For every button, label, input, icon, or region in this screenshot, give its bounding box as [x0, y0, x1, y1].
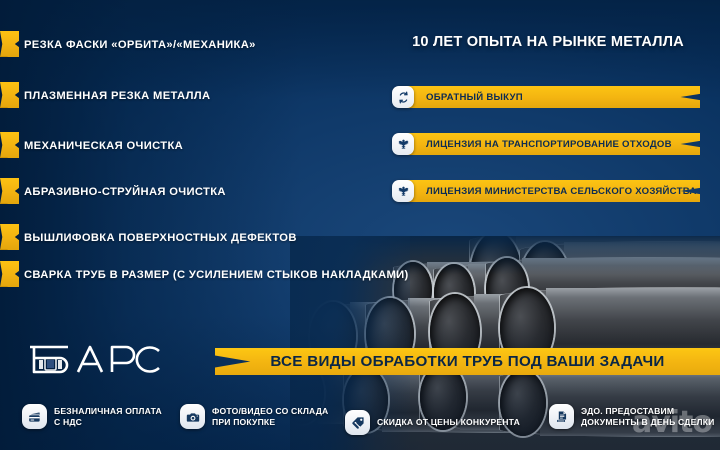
- service-item-0: РЕЗКА ФАСКИ «ОРБИТА»/«МЕХАНИКА»: [24, 39, 256, 51]
- price-tag-icon: [345, 410, 370, 435]
- service-item-2: МЕХАНИЧЕСКАЯ ОЧИСТКА: [24, 140, 183, 152]
- service-label: МЕХАНИЧЕСКАЯ ОЧИСТКА: [24, 140, 183, 152]
- camera-icon: [180, 404, 205, 429]
- badge-label: ЛИЦЕНЗИЯ МИНИСТЕРСТВА СЕЛЬСКОГО ХОЗЯЙСТВ…: [426, 186, 697, 197]
- feature-text: ФОТО/ВИДЕО СО СКЛАДА ПРИ ПОКУПКЕ: [212, 406, 328, 428]
- feature-item-0: БЕЗНАЛИЧНАЯ ОПЛАТА С НДС: [22, 404, 162, 429]
- feature-item-1: ФОТО/ВИДЕО СО СКЛАДА ПРИ ПОКУПКЕ: [180, 404, 328, 429]
- double-headed-eagle-icon: [392, 180, 414, 202]
- feature-line-1: ЭДО. ПРЕДОСТАВИМ: [581, 406, 674, 416]
- recycle-arrows-icon: [392, 86, 414, 108]
- feature-text: СКИДКА ОТ ЦЕНЫ КОНКУРЕНТА: [377, 417, 520, 428]
- feature-line-1: БЕЗНАЛИЧНАЯ ОПЛАТА: [54, 406, 162, 416]
- service-label: ВЫШЛИФОВКА ПОВЕРХНОСТНЫХ ДЕФЕКТОВ: [24, 232, 297, 244]
- badge-label: ЛИЦЕНЗИЯ НА ТРАНСПОРТИРОВАНИЕ ОТХОДОВ: [426, 139, 672, 150]
- credit-card-icon: [22, 404, 47, 429]
- badge-row-1: ЛИЦЕНЗИЯ НА ТРАНСПОРТИРОВАНИЕ ОТХОДОВ: [400, 133, 700, 155]
- feature-line-1: СКИДКА ОТ ЦЕНЫ КОНКУРЕНТА: [377, 417, 520, 427]
- main-banner-text: ВСЕ ВИДЫ ОБРАБОТКИ ТРУБ ПОД ВАШИ ЗАДАЧИ: [270, 353, 664, 370]
- page-title: 10 ЛЕТ ОПЫТА НА РЫНКЕ МЕТАЛЛА: [398, 34, 698, 50]
- service-item-1: ПЛАЗМЕННАЯ РЕЗКА МЕТАЛЛА: [24, 90, 210, 102]
- main-banner: ВСЕ ВИДЫ ОБРАБОТКИ ТРУБ ПОД ВАШИ ЗАДАЧИ: [215, 348, 720, 375]
- document-icon: [549, 404, 574, 429]
- feature-line-2: ДОКУМЕНТЫ В ДЕНЬ СДЕЛКИ: [581, 417, 715, 427]
- service-label: ПЛАЗМЕННАЯ РЕЗКА МЕТАЛЛА: [24, 90, 210, 102]
- feature-text: ЭДО. ПРЕДОСТАВИМ ДОКУМЕНТЫ В ДЕНЬ СДЕЛКИ: [581, 406, 715, 428]
- company-logo: [20, 338, 195, 384]
- feature-line-2: ПРИ ПОКУПКЕ: [212, 417, 275, 427]
- service-item-3: АБРАЗИВНО-СТРУЙНАЯ ОЧИСТКА: [24, 186, 226, 198]
- feature-text: БЕЗНАЛИЧНАЯ ОПЛАТА С НДС: [54, 406, 162, 428]
- feature-line-1: ФОТО/ВИДЕО СО СКЛАДА: [212, 406, 328, 416]
- advertisement-banner: РЕЗКА ФАСКИ «ОРБИТА»/«МЕХАНИКА» ПЛАЗМЕНН…: [0, 0, 720, 450]
- double-headed-eagle-icon: [392, 133, 414, 155]
- feature-item-3: ЭДО. ПРЕДОСТАВИМ ДОКУМЕНТЫ В ДЕНЬ СДЕЛКИ: [549, 404, 715, 429]
- feature-item-2: СКИДКА ОТ ЦЕНЫ КОНКУРЕНТА: [345, 410, 520, 435]
- service-item-5: СВАРКА ТРУБ В РАЗМЕР (С УСИЛЕНИЕМ СТЫКОВ…: [24, 269, 409, 281]
- service-item-4: ВЫШЛИФОВКА ПОВЕРХНОСТНЫХ ДЕФЕКТОВ: [24, 232, 297, 244]
- service-label: АБРАЗИВНО-СТРУЙНАЯ ОЧИСТКА: [24, 186, 226, 198]
- feature-line-2: С НДС: [54, 417, 82, 427]
- badge-label: ОБРАТНЫЙ ВЫКУП: [426, 92, 523, 103]
- badge-row-0: ОБРАТНЫЙ ВЫКУП: [400, 86, 700, 108]
- service-label: СВАРКА ТРУБ В РАЗМЕР (С УСИЛЕНИЕМ СТЫКОВ…: [24, 269, 409, 281]
- badge-row-2: ЛИЦЕНЗИЯ МИНИСТЕРСТВА СЕЛЬСКОГО ХОЗЯЙСТВ…: [400, 180, 700, 202]
- service-label: РЕЗКА ФАСКИ «ОРБИТА»/«МЕХАНИКА»: [24, 39, 256, 51]
